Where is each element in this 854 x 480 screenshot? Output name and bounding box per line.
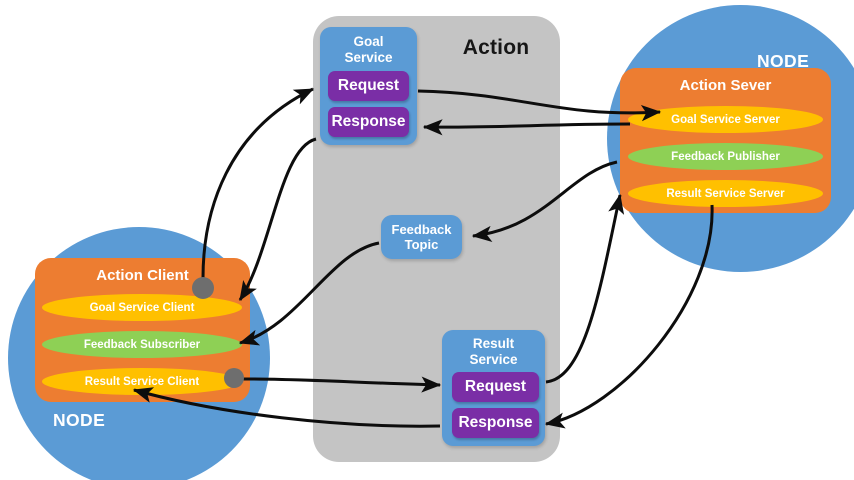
action-title: Action	[440, 36, 552, 60]
action-server-title: Action Sever	[620, 77, 831, 94]
server-node-label: NODE	[757, 51, 809, 72]
result-service-request-chip[interactable]: Request	[452, 372, 539, 402]
pill-feedback-publisher[interactable]: Feedback Publisher	[628, 143, 823, 170]
pill-result-service-server[interactable]: Result Service Server	[628, 180, 823, 207]
goal-service-request-chip[interactable]: Request	[328, 71, 409, 101]
feedback-topic-label-line2: Topic	[405, 237, 439, 252]
goal-service-title-line1: Goal	[353, 34, 383, 49]
wire-goalclient-to-goalrequest	[203, 89, 313, 278]
diagram-canvas: Action Action Sever Goal Service Server …	[0, 0, 854, 480]
pill-feedback-subscriber[interactable]: Feedback Subscriber	[42, 331, 242, 358]
client-node-label: NODE	[53, 410, 105, 431]
feedback-topic-label: Feedback Topic	[392, 222, 452, 253]
action-client-title: Action Client	[35, 267, 250, 284]
goal-service-box: Goal Service Request Response	[320, 27, 417, 145]
pill-result-service-client[interactable]: Result Service Client	[42, 368, 242, 395]
result-service-box: Result Service Request Response	[442, 330, 545, 446]
feedback-topic-label-line1: Feedback	[392, 222, 452, 237]
action-server-box: Action Sever Goal Service Server Feedbac…	[620, 68, 831, 213]
goal-service-response-chip[interactable]: Response	[328, 107, 409, 137]
goal-service-title: Goal Service	[320, 34, 417, 65]
result-service-response-chip[interactable]: Response	[452, 408, 539, 438]
result-service-title-line1: Result	[473, 336, 514, 351]
result-service-title-line2: Service	[469, 352, 517, 367]
action-client-box: Action Client Goal Service Client Feedba…	[35, 258, 250, 402]
pill-goal-service-server[interactable]: Goal Service Server	[628, 106, 823, 133]
result-service-title: Result Service	[442, 336, 545, 367]
feedback-topic-box: Feedback Topic	[381, 215, 462, 259]
wire-goalresponse-to-goalclient	[240, 139, 316, 300]
pill-goal-service-client[interactable]: Goal Service Client	[42, 294, 242, 321]
goal-service-title-line2: Service	[344, 50, 392, 65]
